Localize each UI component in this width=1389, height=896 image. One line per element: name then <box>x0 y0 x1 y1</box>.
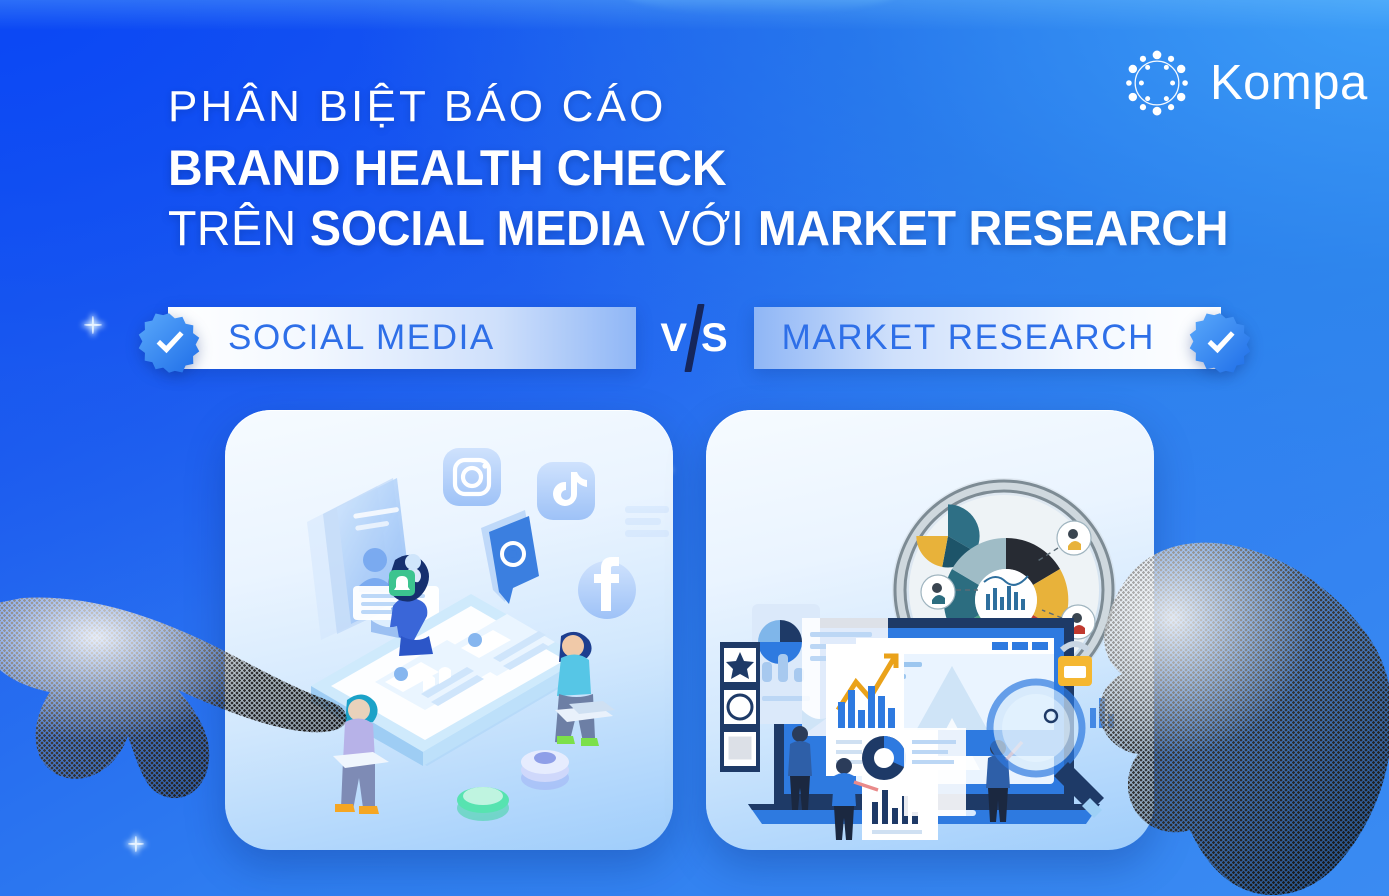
gear-chat-bubble-icon <box>481 510 539 604</box>
versus-s: S <box>701 316 729 361</box>
headline-line-1: PHÂN BIỆT BÁO CÁO <box>168 84 1284 130</box>
versus-divider: V S <box>636 302 754 374</box>
coin-stack <box>457 750 569 821</box>
checklist-panel <box>720 642 760 772</box>
verified-check-badge-icon <box>138 312 200 374</box>
versus-v: V <box>660 316 688 361</box>
left-category-label: SOCIAL MEDIA <box>228 318 495 358</box>
headline-block: PHÂN BIỆT BÁO CÁO BRAND HEALTH CHECK TRÊ… <box>168 84 1284 258</box>
headline-line-3: TRÊN SOCIAL MEDIA VỚI MARKET RESEARCH <box>168 202 1228 258</box>
headline-line-3-part-1: TRÊN <box>168 202 310 256</box>
social-media-illustration <box>225 410 673 850</box>
comparison-bar: SOCIAL MEDIA V S MARKET RESEARCH <box>138 302 1251 374</box>
headline-line-2: BRAND HEALTH CHECK <box>168 140 1239 196</box>
market-research-card[interactable] <box>706 410 1154 850</box>
market-research-illustration <box>706 410 1154 850</box>
comparison-right-half[interactable]: MARKET RESEARCH <box>754 307 1252 369</box>
verified-check-badge-icon <box>1189 312 1251 374</box>
social-media-card[interactable] <box>225 410 673 850</box>
comparison-left-half[interactable]: SOCIAL MEDIA <box>138 307 636 369</box>
headline-line-3-part-3: VỚI <box>646 202 758 256</box>
instagram-icon <box>443 448 501 506</box>
poster-canvas: Kompa PHÂN BIỆT BÁO CÁO BRAND HEALTH CHE… <box>0 0 1389 896</box>
facebook-icon <box>578 557 636 619</box>
headline-line-3-part-2: SOCIAL MEDIA <box>310 202 646 256</box>
versus-text: V S <box>660 304 728 372</box>
right-category-label: MARKET RESEARCH <box>782 318 1155 358</box>
tiktok-icon <box>537 462 595 520</box>
headline-line-3-part-4: MARKET RESEARCH <box>758 202 1228 256</box>
person-sitting-laptop <box>555 632 615 746</box>
